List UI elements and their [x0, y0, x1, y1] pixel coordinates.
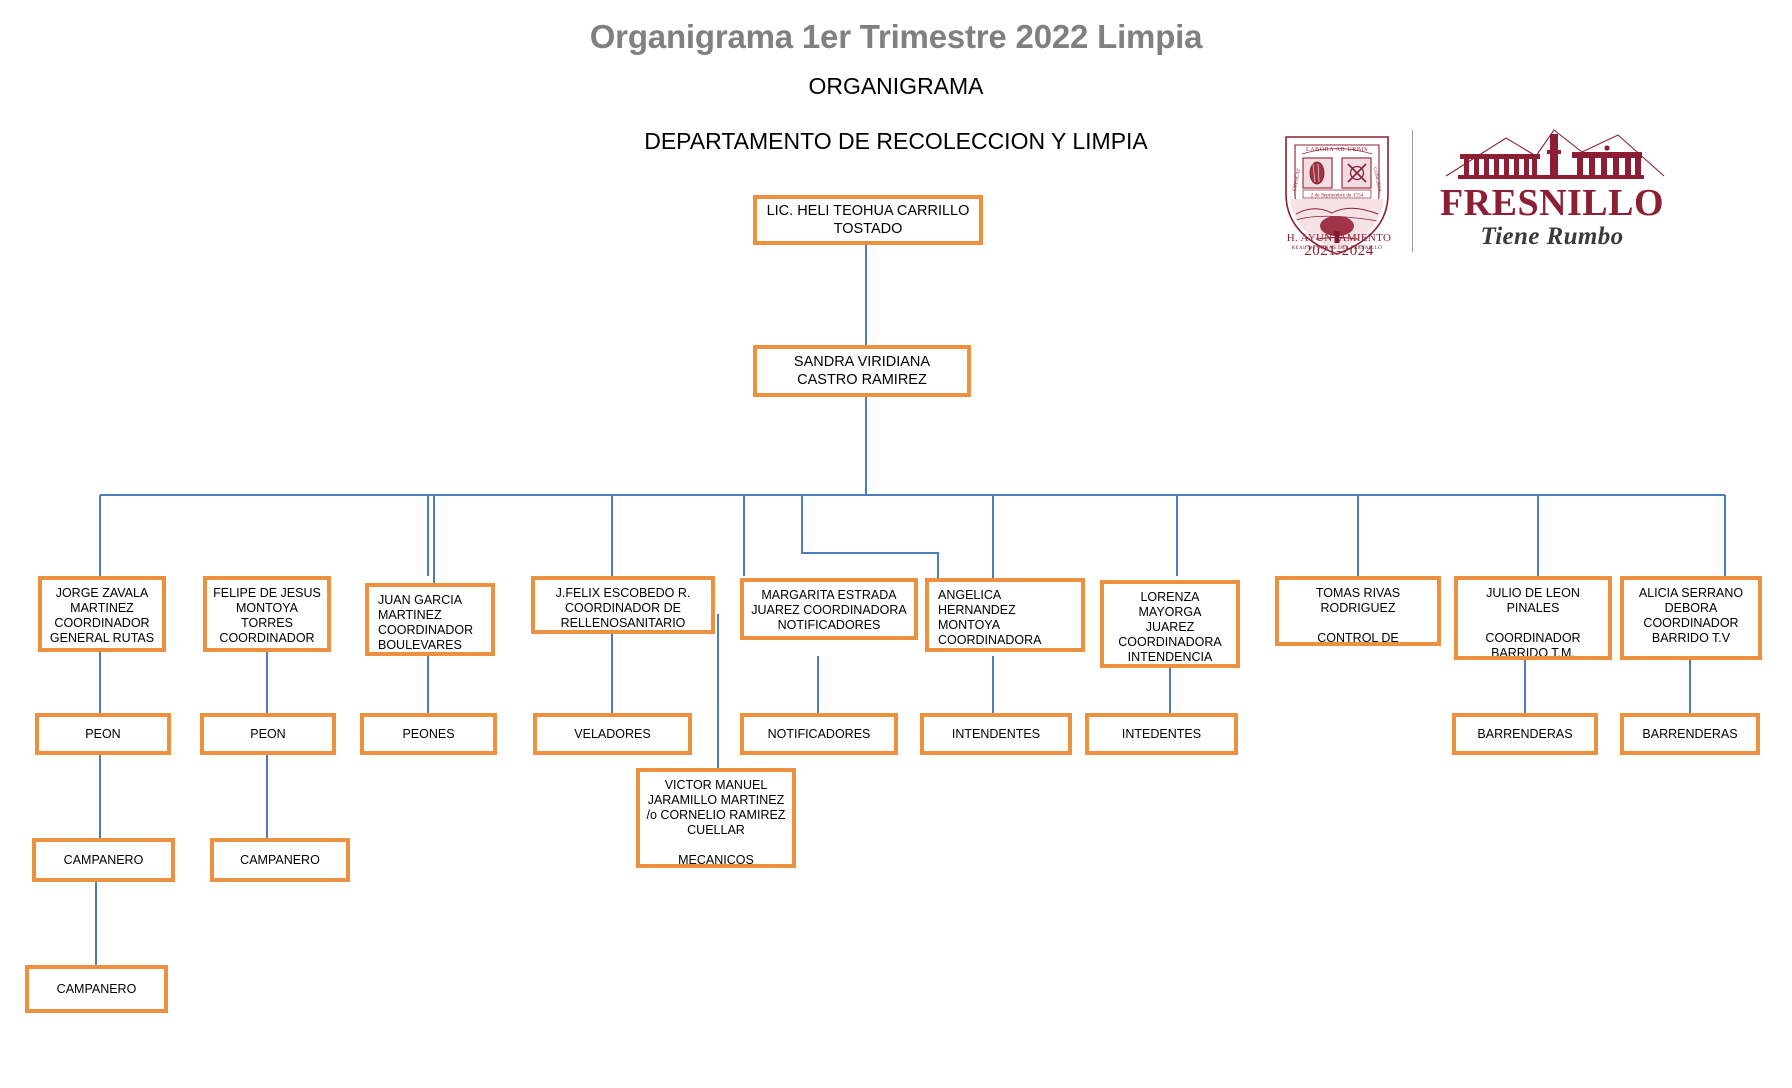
- svg-text:2 de Septiembre de 1554: 2 de Septiembre de 1554: [1311, 193, 1364, 199]
- node-peones[interactable]: PEONES: [360, 713, 497, 755]
- node-coordinador-barrido-tm[interactable]: JULIO DE LEON PINALES COORDINADOR BARRID…: [1454, 576, 1612, 660]
- node-control-combustible[interactable]: TOMAS RIVAS RODRIGUEZ CONTROL DE COMBUST…: [1275, 576, 1441, 646]
- svg-text:CONCIDIA: CONCIDIA: [1371, 167, 1382, 193]
- node-label: CAMPANERO: [36, 853, 171, 868]
- node-coordinador-barrido-tv[interactable]: ALICIA SERRANO DEBORA COORDINADOR BARRID…: [1620, 576, 1762, 660]
- fresnillo-tagline: Tiene Rumbo: [1432, 223, 1672, 251]
- node-label: JORGE ZAVALA MARTINEZ COORDINADOR GENERA…: [42, 580, 162, 646]
- node-barrenderas-tv[interactable]: BARRENDERAS: [1620, 713, 1760, 755]
- organigrama-canvas: Organigrama 1er Trimestre 2022 Limpia OR…: [0, 0, 1792, 1088]
- drop-c6: [802, 495, 938, 578]
- fresnillo-wordmark: FRESNILLO: [1432, 184, 1672, 222]
- crest-caption-line2: 2021-2024: [1280, 245, 1398, 258]
- node-label: VELADORES: [537, 727, 688, 742]
- node-peon-1[interactable]: PEON: [35, 713, 171, 755]
- node-label: PEON: [39, 727, 167, 742]
- node-coordinador-boulevares[interactable]: JUAN GARCIA MARTINEZ COORDINADOR BOULEVA…: [365, 583, 495, 656]
- page-title: Organigrama 1er Trimestre 2022 Limpia: [0, 18, 1792, 56]
- node-label: CAMPANERO: [29, 982, 164, 997]
- fresnillo-logo: FRESNILLO Tiene Rumbo: [1432, 126, 1672, 266]
- subtitle-organigrama: ORGANIGRAMA: [0, 73, 1792, 100]
- node-coordinador-relleno-sanitario[interactable]: J.FELIX ESCOBEDO R. COORDINADOR DE RELLE…: [531, 576, 715, 634]
- colonnade-icon: [1432, 126, 1672, 188]
- node-coordinadora-intendencia-externa[interactable]: LORENZA MAYORGA JUAREZ COORDINADORA INTE…: [1100, 580, 1240, 668]
- node-label: CAMPANERO: [214, 853, 346, 868]
- node-label: TOMAS RIVAS RODRIGUEZ CONTROL DE COMBUST…: [1279, 580, 1437, 646]
- node-intendentes[interactable]: INTENDENTES: [920, 713, 1072, 755]
- node-label: INTEDENTES: [1089, 727, 1234, 742]
- node-label: J.FELIX ESCOBEDO R. COORDINADOR DE RELLE…: [535, 580, 711, 631]
- logo-zone: LABORA AB URBIS 2 de Septiembre de 1554: [1282, 124, 1682, 264]
- node-veladores[interactable]: VELADORES: [533, 713, 692, 755]
- crest-caption: H. AYUNTAMIENTO 2021-2024: [1280, 232, 1398, 258]
- node-label: VICTOR MANUEL JARAMILLO MARTINEZ /o CORN…: [640, 772, 792, 868]
- node-notificadores[interactable]: NOTIFICADORES: [740, 713, 898, 755]
- node-label: JUAN GARCIA MARTINEZ COORDINADOR BOULEVA…: [369, 587, 491, 653]
- node-director[interactable]: LIC. HELI TEOHUA CARRILLO TOSTADO: [753, 195, 983, 245]
- node-peon-2[interactable]: PEON: [200, 713, 336, 755]
- svg-text:CRESCAT: CRESCAT: [1292, 167, 1303, 191]
- node-label: ALICIA SERRANO DEBORA COORDINADOR BARRID…: [1624, 580, 1758, 646]
- logo-divider: [1412, 130, 1413, 252]
- node-label: MARGARITA ESTRADA JUAREZ COORDINADORA NO…: [744, 582, 914, 633]
- node-barrenderas-tm[interactable]: BARRENDERAS: [1452, 713, 1598, 755]
- node-label: JULIO DE LEON PINALES COORDINADOR BARRID…: [1458, 580, 1608, 660]
- node-label: LORENZA MAYORGA JUAREZ COORDINADORA INTE…: [1104, 584, 1236, 668]
- node-campanero-2[interactable]: CAMPANERO: [210, 838, 350, 882]
- node-label: PEONES: [364, 727, 493, 742]
- node-coordinadora-intendentes-int[interactable]: ANGELICA HERNANDEZ MONTOYA COORDINADORA …: [925, 578, 1085, 652]
- node-label: SANDRA VIRIDIANA CASTRO RAMIREZ: [757, 353, 967, 389]
- node-intedentes[interactable]: INTEDENTES: [1085, 713, 1238, 755]
- node-label: FELIPE DE JESUS MONTOYA TORRES COORDINAD…: [207, 580, 327, 652]
- node-subdirector[interactable]: SANDRA VIRIDIANA CASTRO RAMIREZ: [753, 345, 971, 397]
- svg-text:LABORA AB URBIS: LABORA AB URBIS: [1306, 147, 1368, 153]
- node-label: NOTIFICADORES: [744, 727, 894, 742]
- node-mecanicos[interactable]: VICTOR MANUEL JARAMILLO MARTINEZ /o CORN…: [636, 768, 796, 868]
- node-campanero-1[interactable]: CAMPANERO: [32, 838, 175, 882]
- node-coordinador-rutas-tv[interactable]: FELIPE DE JESUS MONTOYA TORRES COORDINAD…: [203, 576, 331, 652]
- node-label: BARRENDERAS: [1624, 727, 1756, 742]
- node-coordinador-general-rutas[interactable]: JORGE ZAVALA MARTINEZ COORDINADOR GENERA…: [38, 576, 166, 652]
- node-campanero-3[interactable]: CAMPANERO: [25, 965, 168, 1013]
- node-label: BARRENDERAS: [1456, 727, 1594, 742]
- node-label: LIC. HELI TEOHUA CARRILLO TOSTADO: [757, 202, 979, 238]
- node-coordinadora-notificadores[interactable]: MARGARITA ESTRADA JUAREZ COORDINADORA NO…: [740, 578, 918, 640]
- node-label: ANGELICA HERNANDEZ MONTOYA COORDINADORA …: [929, 582, 1081, 652]
- node-label: PEON: [204, 727, 332, 742]
- node-label: INTENDENTES: [924, 727, 1068, 742]
